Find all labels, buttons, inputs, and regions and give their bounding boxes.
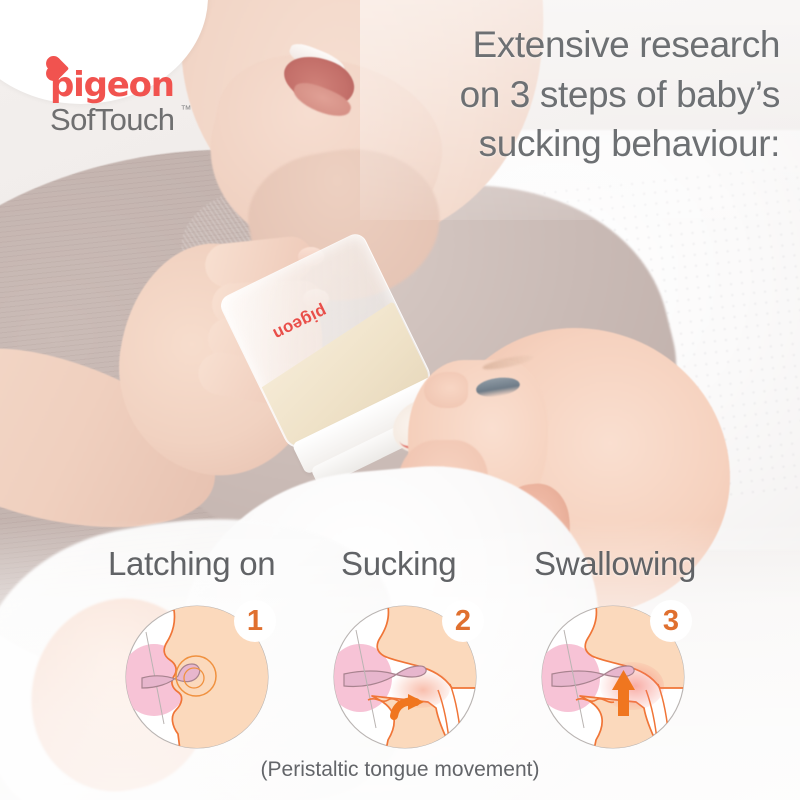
headline-line-3: sucking behaviour: <box>380 119 780 169</box>
headline: Extensive research on 3 steps of baby’s … <box>380 20 780 169</box>
headline-line-2: on 3 steps of baby’s <box>380 70 780 120</box>
logo-softouch-wordmark: SofTouch ™ <box>50 104 174 137</box>
step-diagrams: 1 <box>0 604 800 754</box>
step-number-badge-1: 1 <box>234 600 276 642</box>
logo-pigeon-text: pigeon <box>50 65 174 105</box>
step-label-swallowing: Swallowing <box>534 545 696 583</box>
step-number-badge-2: 2 <box>442 600 484 642</box>
trademark-symbol: ™ <box>180 105 191 117</box>
step-number-badge-3: 3 <box>650 600 692 642</box>
logo-pigeon-wordmark: pigeon <box>50 68 174 102</box>
step-label-sucking: Sucking <box>341 545 456 583</box>
step-label-latching-on: Latching on <box>108 545 275 583</box>
swallowing-diagram: 3 <box>540 604 686 750</box>
headline-line-1: Extensive research <box>380 20 780 70</box>
latching-on-diagram: 1 <box>124 604 270 750</box>
brand-logo: pigeon SofTouch ™ <box>50 68 174 137</box>
logo-softouch-text: SofTouch <box>50 102 174 137</box>
advertisement-canvas: pigeon pigeon SofTouch ™ Extensi <box>0 0 800 800</box>
sucking-diagram: 2 <box>332 604 478 750</box>
step-labels: Latching on Sucking Swallowing <box>0 545 800 605</box>
diagram-caption: (Peristaltic tongue movement) <box>0 758 800 782</box>
baby-nose <box>424 372 468 408</box>
